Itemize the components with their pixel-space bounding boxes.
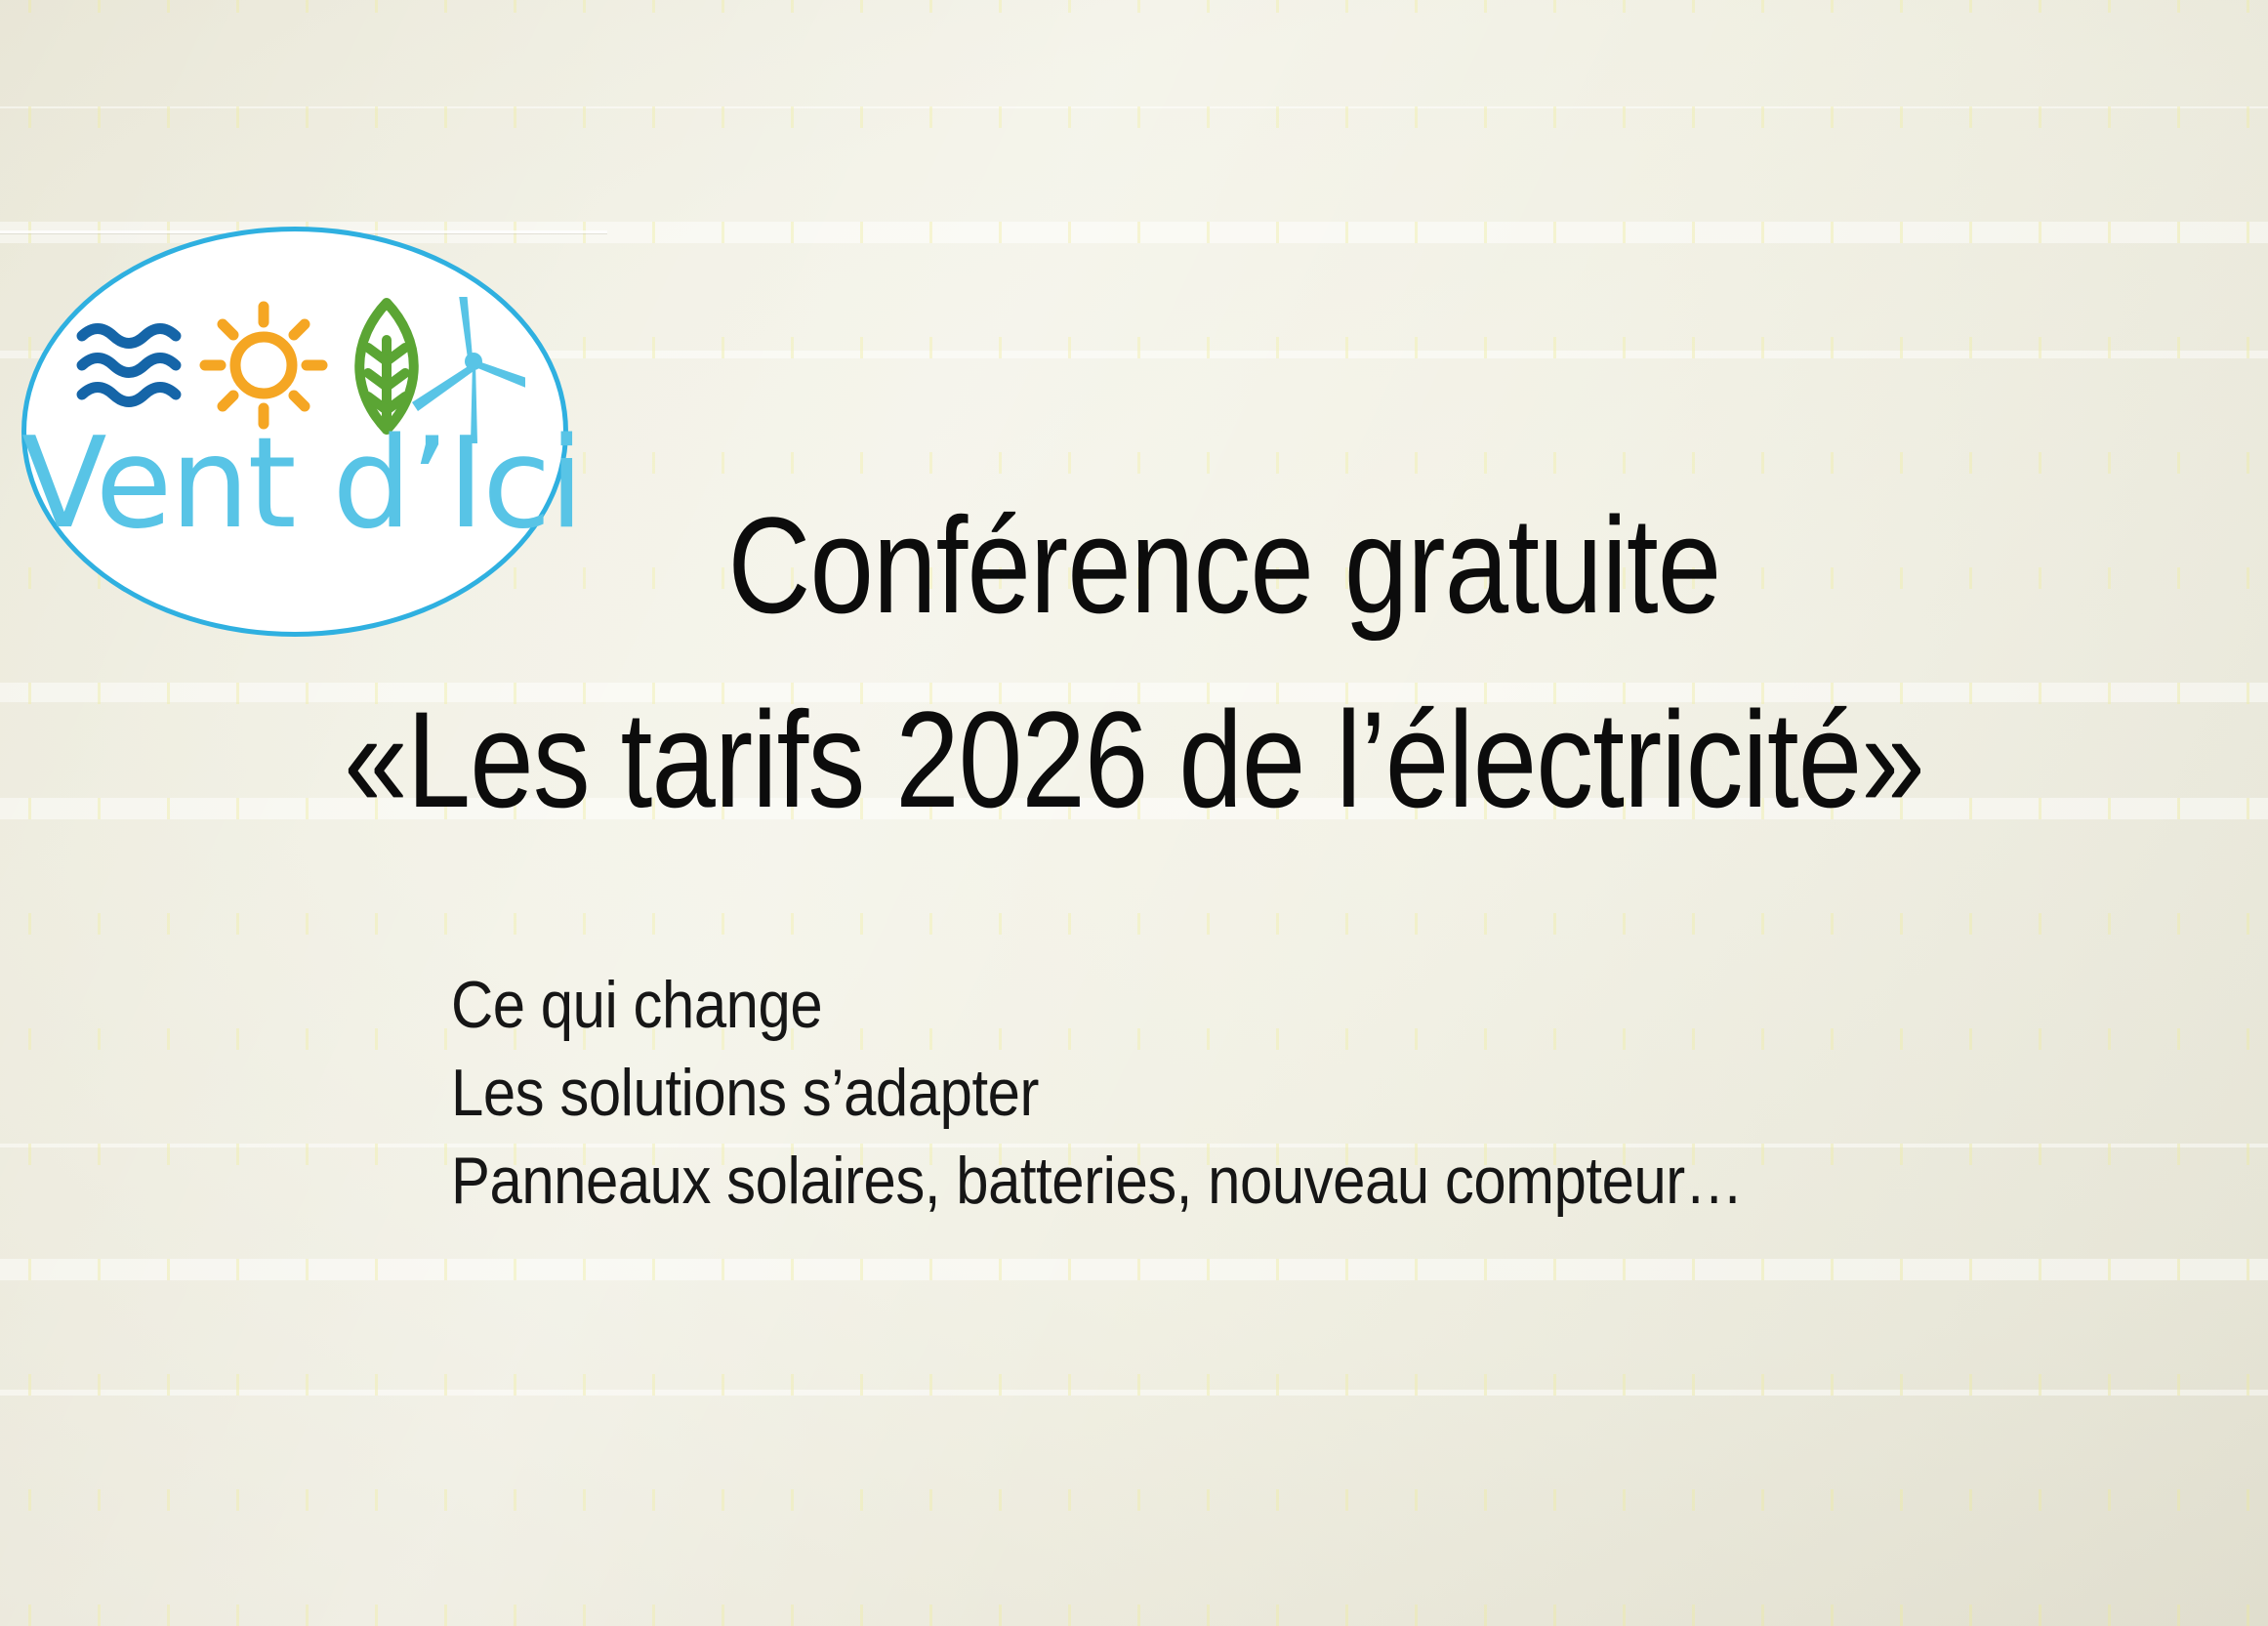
- presentation-slide: Vent d’Ici Conférence gratuite «Les tari…: [0, 0, 2268, 1626]
- body-line-3: Panneaux solaires, batteries, nouveau co…: [451, 1138, 1743, 1226]
- water-waves-icon: [82, 329, 176, 402]
- title-line-1: Conférence gratuite: [182, 469, 2086, 663]
- slide-body: Ce qui change Les solutions s’adapter Pa…: [451, 962, 1919, 1225]
- sun-icon: [205, 307, 322, 424]
- slide-title: Conférence gratuite «Les tarifs 2026 de …: [0, 469, 2268, 857]
- body-line-2: Les solutions s’adapter: [451, 1050, 1743, 1138]
- body-line-1: Ce qui change: [451, 962, 1743, 1050]
- title-line-2: «Les tarifs 2026 de l’électricité»: [182, 663, 2086, 857]
